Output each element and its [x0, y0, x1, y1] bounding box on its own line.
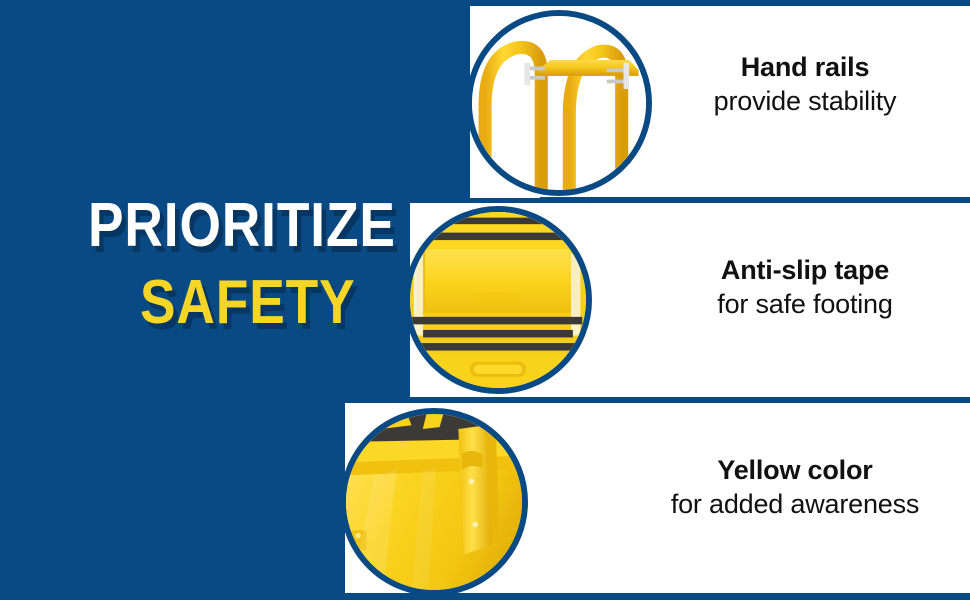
- feature-title-2: Anti-slip tape: [655, 255, 955, 285]
- feature-subtitle-2: for safe footing: [655, 289, 955, 319]
- feature-text-2: Anti-slip tape for safe footing: [655, 255, 955, 319]
- divider-between-2-3: [480, 397, 970, 403]
- yellow-step-illustration: [346, 414, 522, 590]
- safety-feature-banner: PRIORITIZE SAFETY: [0, 0, 970, 600]
- feature-text-1: Hand rails provide stability: [660, 52, 950, 116]
- headline-line-prioritize: PRIORITIZE: [88, 196, 372, 257]
- hand-rails-illustration: [472, 16, 646, 190]
- headline: PRIORITIZE SAFETY: [88, 196, 418, 334]
- feature-title-1: Hand rails: [660, 52, 950, 82]
- feature-subtitle-3: for added awareness: [630, 489, 960, 519]
- hand-rails-photo: [466, 10, 652, 196]
- divider-top: [470, 0, 970, 6]
- feature-text-3: Yellow color for added awareness: [630, 455, 960, 519]
- anti-slip-tape-photo: [404, 206, 592, 394]
- divider-between-1-2: [540, 197, 970, 203]
- feature-title-3: Yellow color: [630, 455, 960, 485]
- feature-subtitle-1: provide stability: [660, 86, 950, 116]
- yellow-step-photo: [340, 408, 528, 596]
- anti-slip-tape-illustration: [410, 212, 586, 388]
- headline-line-safety: SAFETY: [140, 273, 379, 334]
- divider-bottom: [400, 593, 970, 599]
